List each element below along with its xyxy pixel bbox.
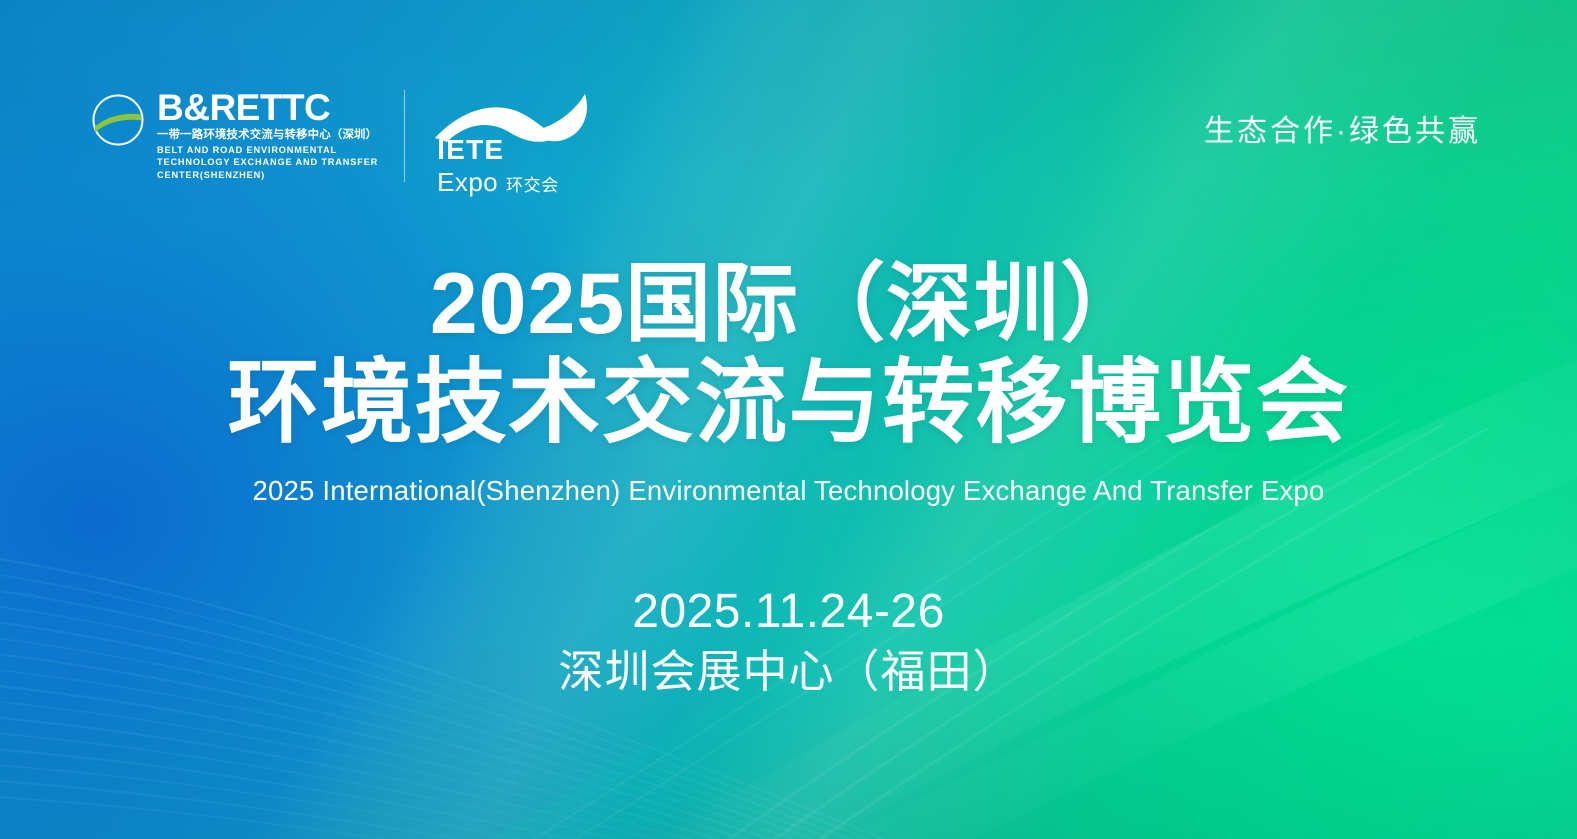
banner-header: B&RETTC 一带一路环境技术交流与转移中心（深圳） BELT AND ROA… [0,0,1577,210]
iete-acronym: IETE [437,136,559,164]
banner-main: 2025国际（深圳） 环境技术交流与转移博览会 2025 Internation… [0,258,1577,700]
brettc-english-line-3: CENTER(SHENZHEN) [157,169,378,182]
iete-sub-row: Expo 环交会 [437,169,559,195]
brettc-text-block: B&RETTC 一带一路环境技术交流与转移中心（深圳） BELT AND ROA… [157,90,378,182]
event-meta: 2025.11.24-26 深圳会展中心（福田） [0,581,1577,700]
iete-expo-word: Expo [437,169,498,195]
iete-chinese-short: 环交会 [506,177,559,194]
brettc-english-line-2: TECHNOLOGY EXCHANGE AND TRANSFER [157,156,378,169]
logo-group: B&RETTC 一带一路环境技术交流与转移中心（深圳） BELT AND ROA… [0,0,607,190]
iete-text-block: IETE Expo 环交会 [437,136,559,195]
brettc-logo: B&RETTC 一带一路环境技术交流与转移中心（深圳） BELT AND ROA… [90,90,405,182]
brettc-english-line-1: BELT AND ROAD ENVIRONMENTAL [157,144,378,157]
brettc-wordmark: B&RETTC [157,90,378,125]
brettc-chinese-name: 一带一路环境技术交流与转移中心（深圳） [157,127,378,144]
circle-band-icon [90,92,146,148]
title-line-1: 2025国际（深圳） [0,258,1577,350]
event-date: 2025.11.24-26 [0,581,1577,642]
event-banner: B&RETTC 一带一路环境技术交流与转移中心（深圳） BELT AND ROA… [0,0,1577,839]
event-venue: 深圳会展中心（福田） [0,643,1577,701]
event-tagline: 生态合作·绿色共赢 [1204,0,1577,150]
iete-expo-logo: IETE Expo 环交会 [405,90,607,190]
english-subtitle: 2025 International(Shenzhen) Environment… [0,475,1577,507]
title-line-2: 环境技术交流与转移博览会 [0,354,1577,453]
